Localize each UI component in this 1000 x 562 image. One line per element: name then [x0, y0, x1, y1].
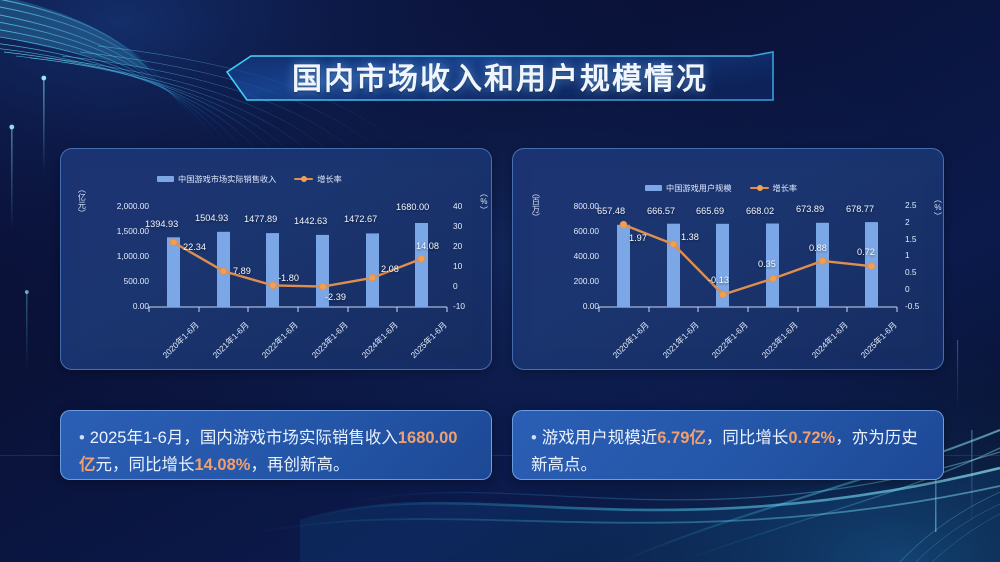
- chart-card-revenue: 中国游戏市场实际销售收入 增长率 （亿元） （%） 0.00 500.00 1,…: [60, 148, 492, 370]
- bar-value-label: 1472.67: [344, 214, 377, 224]
- legend-label: 中国游戏市场实际销售收入: [178, 173, 276, 185]
- line-value-label: 14.08: [416, 241, 439, 251]
- bar-swatch-icon: [157, 176, 174, 182]
- chart-card-users: 中国游戏用户规模 增长率 （百万） （%） 0.00 200.00 400.00…: [512, 148, 944, 370]
- users-legend: 中国游戏用户规模 增长率: [645, 182, 797, 194]
- callout-text-part: 元，同比增长: [96, 456, 195, 474]
- line-value-label: 1.97: [629, 233, 647, 243]
- bar-swatch-icon: [645, 185, 662, 191]
- bar-value-label: 657.48: [597, 206, 625, 216]
- page-title: 国内市场收入和用户规模情况: [225, 50, 775, 102]
- bar-value-label: 665.69: [696, 206, 724, 216]
- callout-text-part: 2025年1-6月，国内游戏市场实际销售收入: [90, 429, 398, 447]
- line-swatch-icon: [750, 184, 769, 192]
- line-value-label: 0.35: [758, 259, 776, 269]
- bar-value-label: 668.02: [746, 206, 774, 216]
- line-value-label: 0.88: [809, 243, 827, 253]
- callout-highlight: 0.72%: [788, 429, 835, 447]
- revenue-legend: 中国游戏市场实际销售收入 增长率: [157, 173, 342, 185]
- bullet-icon: •: [531, 429, 537, 447]
- line-value-label: 2.08: [381, 264, 399, 274]
- bar-value-label: 1477.89: [244, 214, 277, 224]
- bullet-icon: •: [79, 429, 85, 447]
- line-value-label: -0.13: [708, 275, 729, 285]
- bar-value-label: 678.77: [846, 204, 874, 214]
- callout-text-part: ，同比增长: [706, 429, 789, 447]
- line-value-label: 1.38: [681, 232, 699, 242]
- legend-item-revenue-bar[interactable]: 中国游戏市场实际销售收入: [157, 173, 276, 185]
- users-bars: [617, 222, 878, 307]
- legend-item-revenue-line[interactable]: 增长率: [294, 173, 342, 185]
- line-value-label: 7.89: [233, 266, 251, 276]
- line-value-label: 0.72: [857, 247, 875, 257]
- revenue-chart: 中国游戏市场实际销售收入 增长率 （亿元） （%） 0.00 500.00 1,…: [61, 149, 491, 369]
- bar-value-label: 673.89: [796, 204, 824, 214]
- callout-highlight: 14.08%: [195, 456, 251, 474]
- line-value-label: -1.80: [278, 273, 299, 283]
- line-value-label: 22.34: [183, 242, 206, 252]
- line-swatch-icon: [294, 175, 313, 183]
- legend-item-users-bar[interactable]: 中国游戏用户规模: [645, 182, 732, 194]
- bar-value-label: 666.57: [647, 206, 675, 216]
- callout-users: •游戏用户规模近6.79亿，同比增长0.72%，亦为历史新高点。: [512, 410, 944, 480]
- legend-label: 中国游戏用户规模: [666, 182, 732, 194]
- bar-value-label: 1680.00: [396, 202, 429, 212]
- legend-item-users-line[interactable]: 增长率: [750, 182, 798, 194]
- line-value-label: -2.39: [325, 292, 346, 302]
- callout-text-part: ，再创新高。: [250, 456, 349, 474]
- legend-label: 增长率: [773, 182, 798, 194]
- bar-value-label: 1504.93: [195, 213, 228, 223]
- users-chart: 中国游戏用户规模 增长率 （百万） （%） 0.00 200.00 400.00…: [513, 149, 943, 369]
- users-growth-line: [624, 225, 872, 295]
- callout-revenue: •2025年1-6月，国内游戏市场实际销售收入1680.00亿元，同比增长14.…: [60, 410, 492, 480]
- bar-value-label: 1394.93: [145, 219, 178, 229]
- page-title-banner: 国内市场收入和用户规模情况: [225, 50, 775, 102]
- callout-text-part: 游戏用户规模近: [542, 429, 658, 447]
- callout-highlight: 6.79亿: [657, 429, 706, 447]
- legend-label: 增长率: [317, 173, 342, 185]
- bar-value-label: 1442.63: [294, 216, 327, 226]
